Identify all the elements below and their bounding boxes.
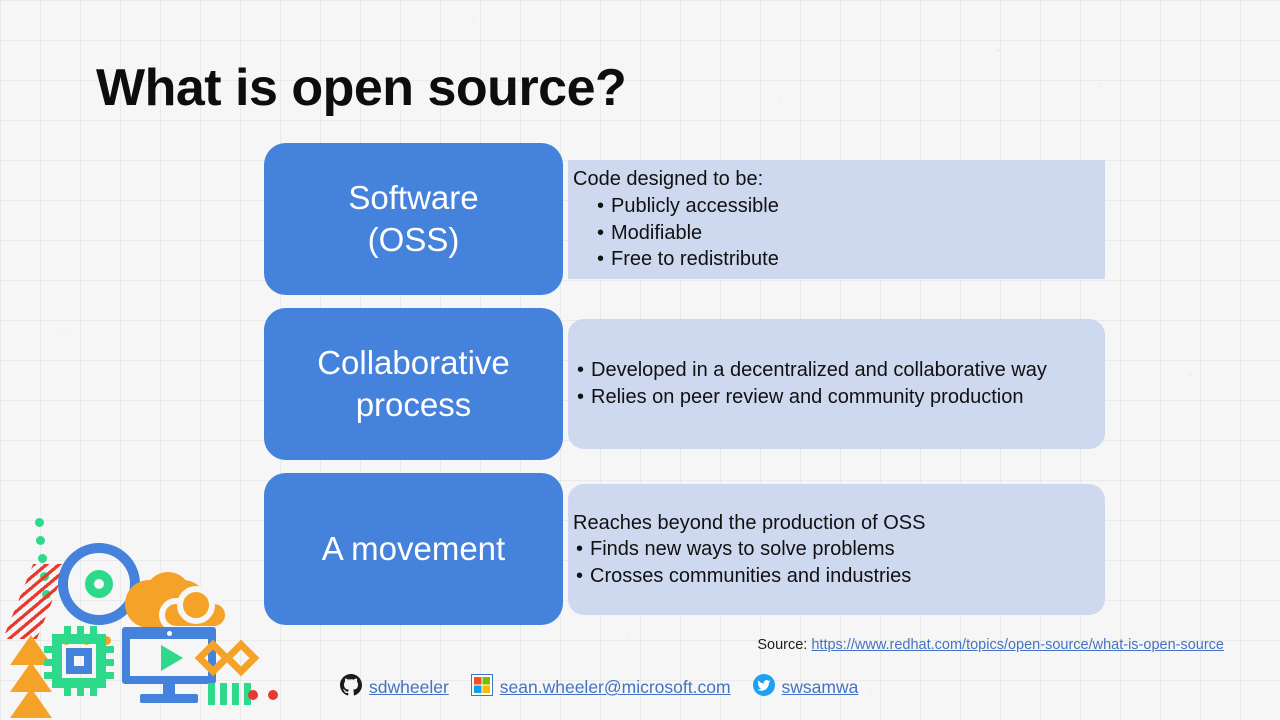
chip-leg: [90, 688, 97, 696]
contact-github[interactable]: sdwheeler: [340, 674, 449, 701]
chip-leg: [106, 672, 114, 679]
chip-leg: [106, 646, 114, 653]
green-bar: [232, 683, 239, 705]
pill-line-1: Collaborative: [317, 342, 510, 384]
panel-lead-text: Reaches beyond the production of OSS: [573, 510, 1105, 537]
pill-text: A movement: [322, 528, 505, 570]
twitter-handle[interactable]: swsamwa: [782, 677, 859, 698]
bullet-text: Crosses communities and industries: [590, 563, 911, 590]
green-dot: [38, 554, 47, 563]
bullet-glyph: •: [597, 193, 611, 220]
github-handle[interactable]: sdwheeler: [369, 677, 449, 698]
monitor-camera-dot: [167, 631, 172, 636]
panel-lead-text: Code designed to be:: [573, 166, 1105, 193]
pill-line-1: Software: [348, 177, 478, 219]
bullet-text: Finds new ways to solve problems: [590, 536, 895, 563]
decorative-graphics-cluster: [0, 500, 270, 720]
chip-leg: [64, 626, 71, 634]
chip-core: [66, 648, 92, 674]
bullet-item: • Publicly accessible: [573, 193, 1105, 220]
category-pill-a-movement[interactable]: A movement: [264, 473, 563, 625]
orange-diamond: [223, 640, 260, 677]
bullet-item: • Finds new ways to solve problems: [573, 536, 1105, 563]
cloud-front-top: [177, 586, 215, 624]
slide-canvas: What is open source? Software (OSS) Code…: [0, 0, 1280, 720]
bullet-text: Modifiable: [611, 220, 702, 247]
category-pill-collaborative-process[interactable]: Collaborative process: [264, 308, 563, 460]
bullet-text: Publicly accessible: [611, 193, 779, 220]
orange-cloud-icon: [125, 572, 235, 634]
chip-leg: [44, 659, 52, 666]
bullet-item: • Modifiable: [573, 220, 1105, 247]
pill-line-2: process: [317, 384, 510, 426]
bullet-item: • Free to redistribute: [573, 246, 1105, 273]
green-bar: [208, 683, 215, 705]
bullet-text: Relies on peer review and community prod…: [591, 384, 1023, 411]
bullet-glyph: •: [577, 384, 591, 411]
twitter-icon: [753, 674, 775, 701]
chip-leg: [77, 626, 84, 634]
description-panel-collaborative-process: • Developed in a decentralized and colla…: [568, 319, 1105, 449]
chip-leg: [44, 646, 52, 653]
green-dot: [35, 518, 44, 527]
red-dot: [268, 690, 278, 700]
bullet-glyph: •: [576, 536, 590, 563]
pill-line-1: A movement: [322, 528, 505, 570]
chip-leg: [77, 688, 84, 696]
ring-inner-core: [85, 570, 113, 598]
chip-leg: [90, 626, 97, 634]
contact-email[interactable]: sean.wheeler@microsoft.com: [471, 674, 731, 701]
source-label: Source:: [757, 637, 807, 653]
bullet-glyph: •: [577, 357, 591, 384]
footer-contacts: sdwheeler sean.wheeler@microsoft.com: [340, 674, 858, 701]
bullet-glyph: •: [576, 563, 590, 590]
pill-text: Software (OSS): [348, 177, 478, 261]
chip-leg: [44, 672, 52, 679]
monitor-stand-base: [140, 694, 198, 703]
bullet-text: Free to redistribute: [611, 246, 779, 273]
bullet-text: Developed in a decentralized and collabo…: [591, 357, 1047, 384]
pill-line-2: (OSS): [348, 219, 478, 261]
green-chip-icon: [44, 626, 114, 696]
page-title: What is open source?: [96, 58, 626, 118]
email-address[interactable]: sean.wheeler@microsoft.com: [500, 677, 731, 698]
description-panel-software: Code designed to be: • Publicly accessib…: [568, 160, 1105, 279]
chip-leg: [106, 659, 114, 666]
microsoft-icon: [471, 674, 493, 701]
chip-leg: [64, 688, 71, 696]
description-panel-a-movement: Reaches beyond the production of OSS • F…: [568, 484, 1105, 615]
green-bar: [220, 683, 227, 705]
bullet-item: • Relies on peer review and community pr…: [577, 384, 1105, 411]
bullet-item: • Developed in a decentralized and colla…: [577, 357, 1105, 384]
bullet-item: • Crosses communities and industries: [573, 563, 1105, 590]
bullet-glyph: •: [597, 220, 611, 247]
contact-twitter[interactable]: swsamwa: [753, 674, 859, 701]
category-pill-software[interactable]: Software (OSS): [264, 143, 563, 295]
bullet-glyph: •: [597, 246, 611, 273]
play-icon: [161, 645, 183, 671]
source-link[interactable]: https://www.redhat.com/topics/open-sourc…: [811, 637, 1224, 653]
github-icon: [340, 674, 362, 701]
pill-text: Collaborative process: [317, 342, 510, 426]
source-line: Source: https://www.redhat.com/topics/op…: [757, 637, 1224, 653]
green-dot: [36, 536, 45, 545]
red-dot: [248, 690, 258, 700]
